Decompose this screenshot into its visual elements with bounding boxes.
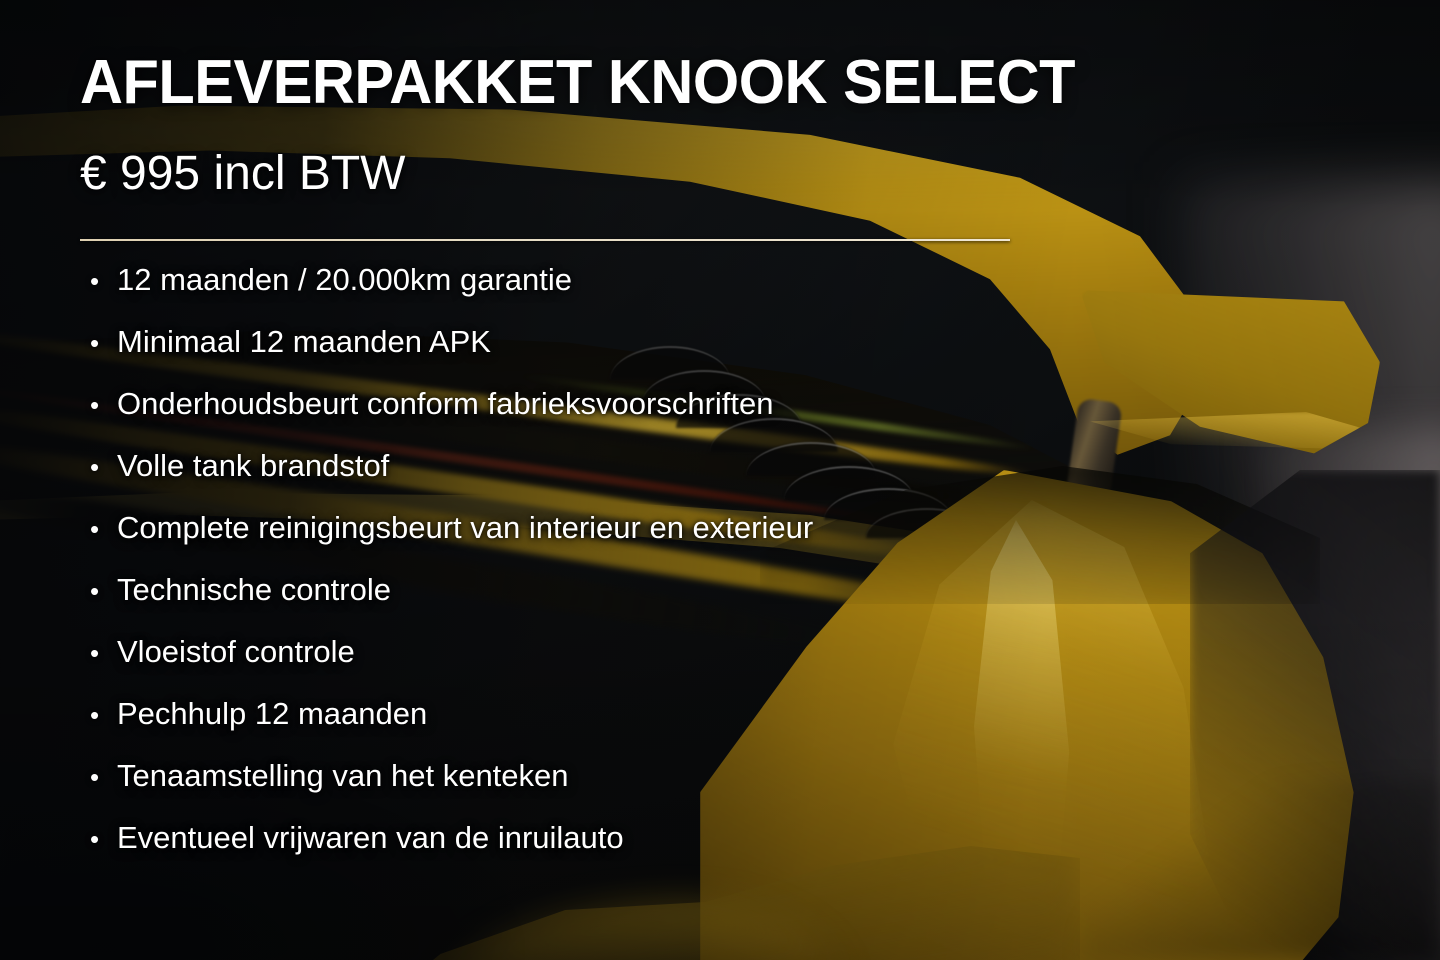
list-item: • Tenaamstelling van het kenteken <box>90 758 1290 820</box>
bullet-icon: • <box>90 516 117 542</box>
promo-poster: AFLEVERPAKKET KNOOK SELECT € 995 incl BT… <box>0 0 1440 960</box>
bullet-icon: • <box>90 268 117 294</box>
bullet-icon: • <box>90 578 117 604</box>
list-item: • Onderhoudsbeurt conform fabrieksvoorsc… <box>90 386 1290 448</box>
list-item-label: Technische controle <box>117 572 391 608</box>
list-item-label: Volle tank brandstof <box>117 448 389 484</box>
list-item-label: Eventueel vrijwaren van de inruilauto <box>117 820 624 856</box>
page-title: AFLEVERPAKKET KNOOK SELECT <box>80 50 1075 116</box>
list-item-label: Tenaamstelling van het kenteken <box>117 758 569 794</box>
bullet-icon: • <box>90 764 117 790</box>
list-item: • Volle tank brandstof <box>90 448 1290 510</box>
list-item-label: Pechhulp 12 maanden <box>117 696 427 732</box>
list-item: • Vloeistof controle <box>90 634 1290 696</box>
bullet-icon: • <box>90 640 117 666</box>
divider <box>80 239 1010 241</box>
price-label: € 995 incl BTW <box>80 148 405 201</box>
bullet-icon: • <box>90 392 117 418</box>
list-item-label: Vloeistof controle <box>117 634 355 670</box>
list-item-label: Complete reinigingsbeurt van interieur e… <box>117 510 813 546</box>
poster-content: AFLEVERPAKKET KNOOK SELECT € 995 incl BT… <box>80 0 1360 960</box>
list-item: • Minimaal 12 maanden APK <box>90 324 1290 386</box>
list-item-label: 12 maanden / 20.000km garantie <box>117 262 572 298</box>
list-item: • 12 maanden / 20.000km garantie <box>90 262 1290 324</box>
list-item: • Pechhulp 12 maanden <box>90 696 1290 758</box>
list-item: • Technische controle <box>90 572 1290 634</box>
feature-list: • 12 maanden / 20.000km garantie • Minim… <box>90 262 1290 882</box>
list-item-label: Onderhoudsbeurt conform fabrieksvoorschr… <box>117 386 774 422</box>
bullet-icon: • <box>90 826 117 852</box>
bullet-icon: • <box>90 330 117 356</box>
list-item-label: Minimaal 12 maanden APK <box>117 324 491 360</box>
list-item: • Eventueel vrijwaren van de inruilauto <box>90 820 1290 882</box>
list-item: • Complete reinigingsbeurt van interieur… <box>90 510 1290 572</box>
bullet-icon: • <box>90 702 117 728</box>
bullet-icon: • <box>90 454 117 480</box>
